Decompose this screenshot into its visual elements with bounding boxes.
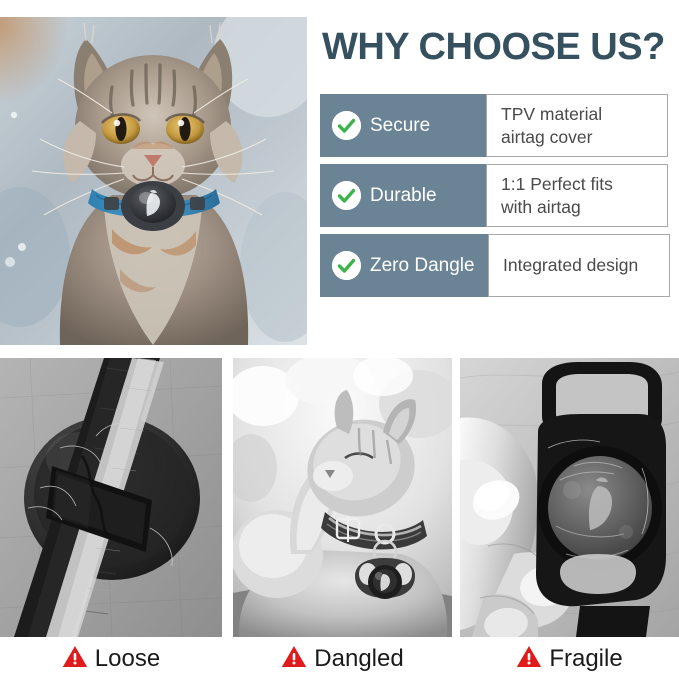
feature-detail-cell: TPV material airtag cover (486, 94, 668, 157)
feature-detail: TPV material airtag cover (501, 103, 602, 148)
loose-holder-on-strap-photo (0, 358, 222, 637)
comparison-photo-fragile (460, 358, 679, 637)
comparison-label: Dangled (314, 647, 403, 671)
feature-detail-cell: 1:1 Perfect fits with airtag (486, 164, 668, 227)
feature-label: Secure (370, 116, 430, 135)
comparison-label: Fragile (549, 647, 622, 671)
warning-triangle-icon (281, 645, 307, 673)
feature-detail: 1:1 Perfect fits with airtag (501, 173, 613, 218)
comparison-photo-loose (0, 358, 222, 637)
feature-detail-cell: Integrated design (488, 234, 670, 297)
hand-holding-cracked-holder-photo (460, 358, 679, 637)
page-title: WHY CHOOSE US? (322, 28, 674, 68)
feature-row: Secure TPV material airtag cover (320, 94, 668, 157)
cat-with-dangling-airtag-photo (233, 358, 452, 637)
cat-wearing-airtag-collar-photo (0, 17, 307, 345)
comparison-caption-loose: Loose (0, 642, 222, 676)
feature-label: Zero Dangle (370, 256, 475, 275)
feature-detail: Integrated design (503, 254, 638, 276)
feature-label: Durable (370, 186, 437, 205)
feature-label-cell: Durable (320, 164, 486, 227)
feature-label-cell: Zero Dangle (320, 234, 488, 297)
comparison-caption-fragile: Fragile (460, 642, 679, 676)
comparison-photo-dangled (233, 358, 452, 637)
comparison-label: Loose (95, 647, 160, 671)
comparison-caption-dangled: Dangled (233, 642, 452, 676)
feature-label-cell: Secure (320, 94, 486, 157)
warning-triangle-icon (516, 645, 542, 673)
hero-cat-photo (0, 17, 307, 345)
warning-triangle-icon (62, 645, 88, 673)
check-circle-icon (332, 251, 361, 280)
feature-row: Zero Dangle Integrated design (320, 234, 670, 297)
check-circle-icon (332, 111, 361, 140)
check-circle-icon (332, 181, 361, 210)
feature-row: Durable 1:1 Perfect fits with airtag (320, 164, 668, 227)
